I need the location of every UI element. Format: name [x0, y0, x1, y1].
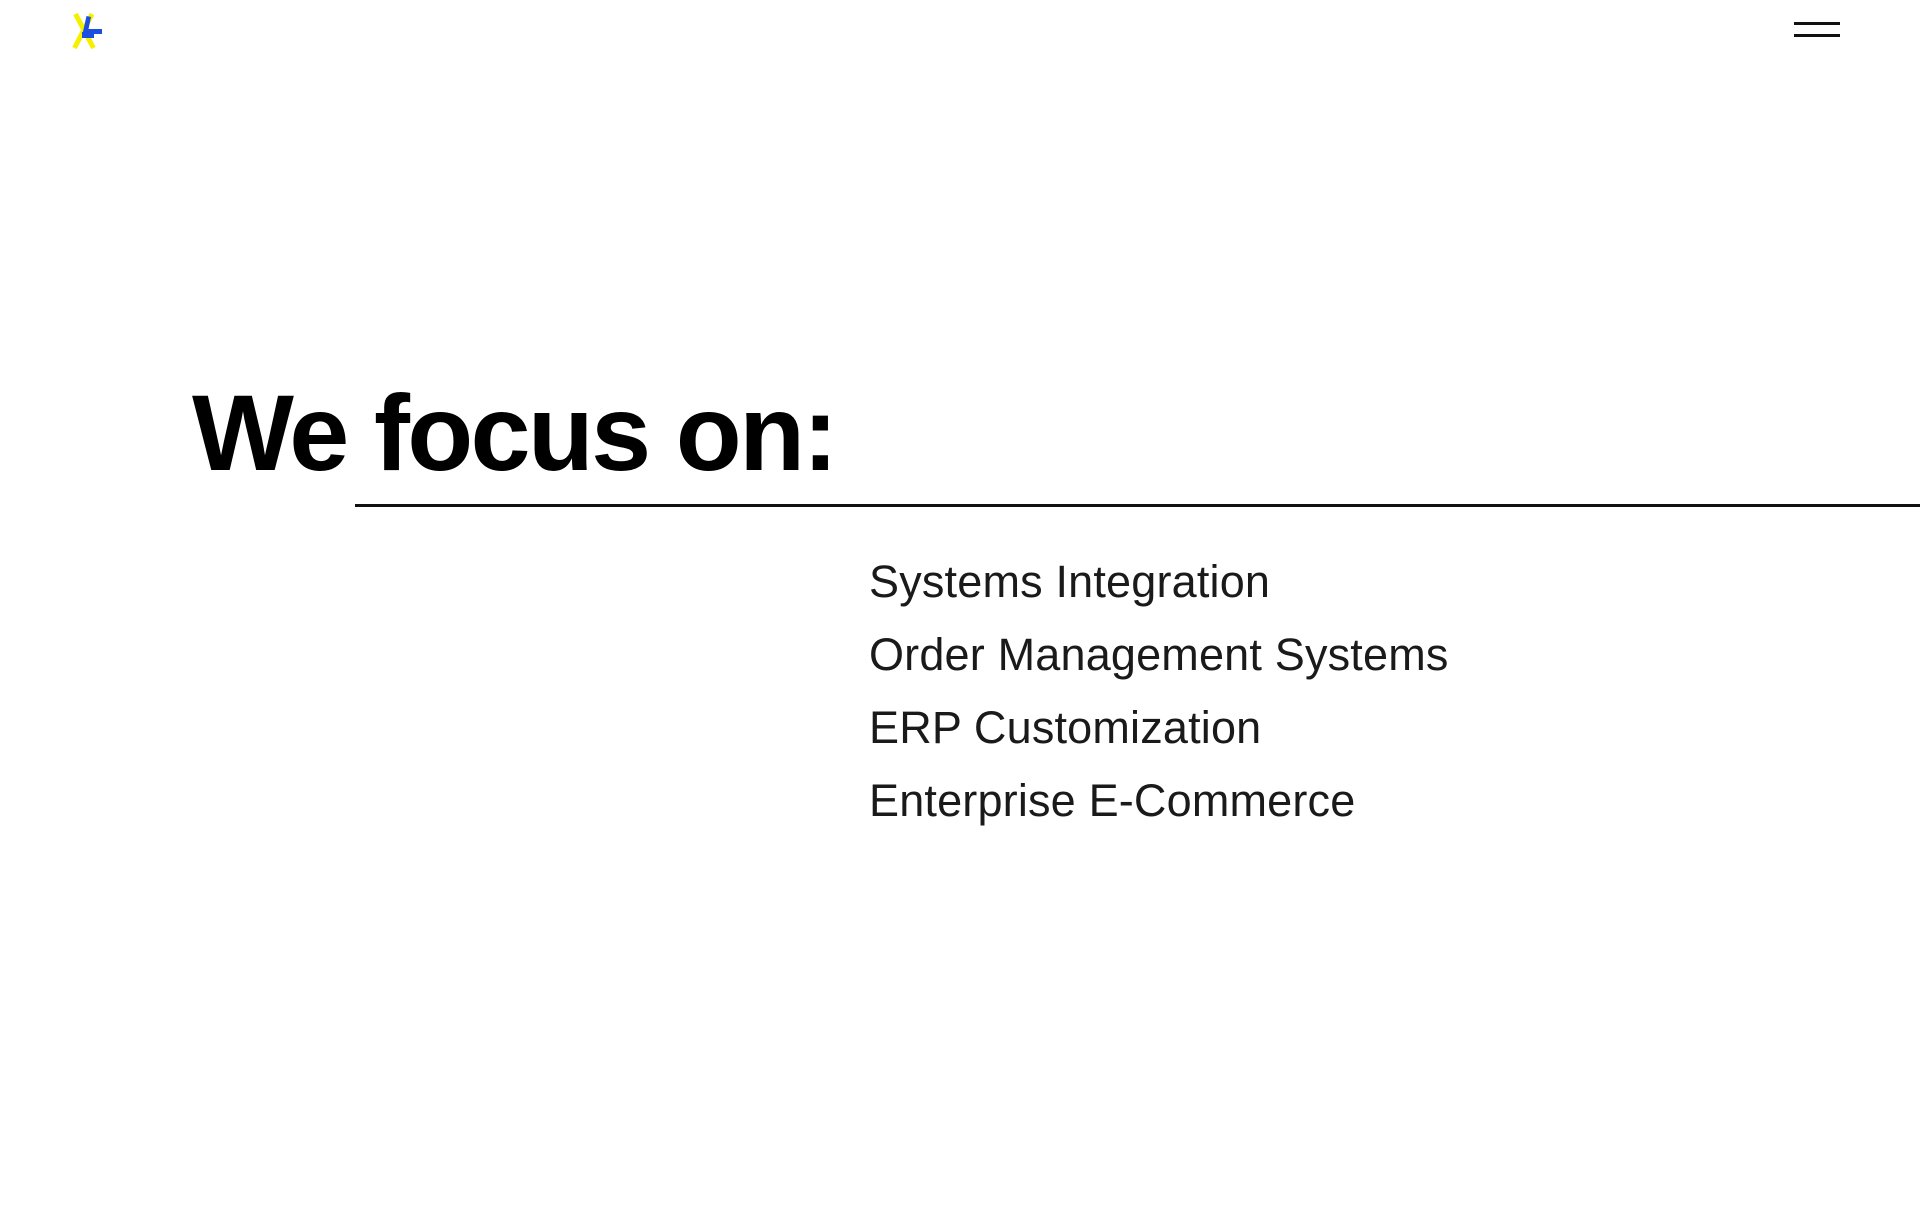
list-item: Enterprise E-Commerce — [869, 764, 1449, 837]
focus-list: Systems Integration Order Management Sys… — [869, 545, 1449, 837]
list-item: Order Management Systems — [869, 618, 1449, 691]
list-item: ERP Customization — [869, 691, 1449, 764]
focus-section: We focus on: Systems Integration Order M… — [0, 0, 1920, 1226]
page-title: We focus on: — [192, 378, 836, 488]
section-divider — [355, 504, 1920, 507]
list-item: Systems Integration — [869, 545, 1449, 618]
